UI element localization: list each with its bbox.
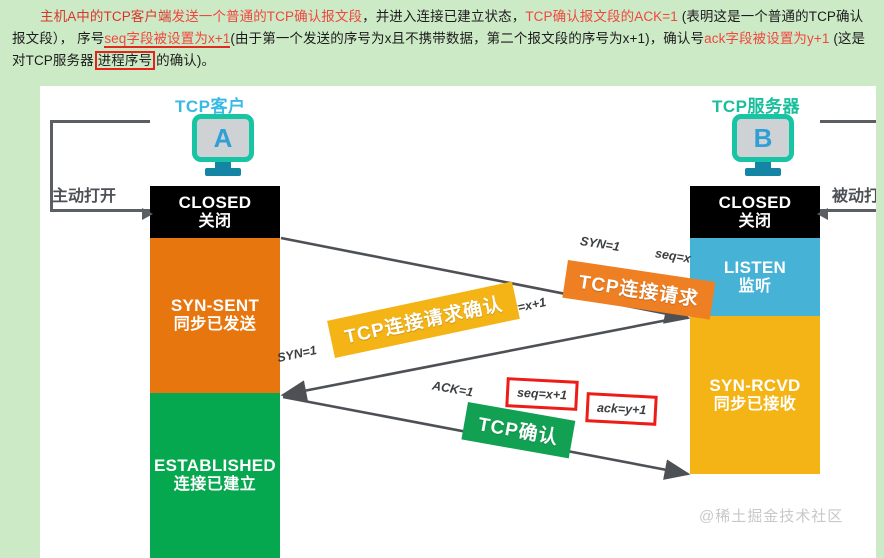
state-name-cn: 同步已发送 [174, 316, 257, 335]
note-seg-11: 的确认)。 [156, 53, 215, 68]
note-seg-6-underlined: seq字段被设置为x+1 [104, 31, 230, 48]
server-state-closed: CLOSED 关闭 [690, 186, 820, 238]
arrowhead-icon [817, 208, 828, 220]
client-computer-icon: A [192, 114, 254, 176]
state-name-en: CLOSED [179, 193, 252, 213]
state-name-cn: 同步已接收 [714, 396, 797, 415]
note-seg-10-boxed: 进程序号 [95, 51, 155, 70]
server-state-syn-rcvd: SYN-RCVD 同步已接收 [690, 316, 820, 474]
state-name-cn: 关闭 [738, 213, 771, 232]
arrowhead-icon [142, 208, 153, 220]
bracket-horizontal-bar [50, 209, 150, 212]
watermark: @稀土掘金技术社区 [699, 505, 843, 526]
state-name-cn: 关闭 [198, 213, 231, 232]
client-state-established: ESTABLISHED 连接已建立 [150, 393, 280, 558]
state-name-en: CLOSED [719, 193, 792, 213]
passive-open-label: 被动打开 [832, 182, 876, 206]
tcp-handshake-diagram: TCP客户 TCP服务器 A B CLOSED 关闭 SYN-SENT 同步已发… [40, 86, 876, 558]
state-name-cn: 监听 [738, 278, 771, 297]
bracket-horizontal-bar [820, 209, 876, 212]
annotation-paragraph: 主机A中的TCP客户端发送一个普通的TCP确认报文段，并进入连接已建立状态，TC… [12, 6, 872, 72]
field-label-seq-x-plus-1-highlighted: seq=x+1 [505, 377, 579, 411]
note-seg-1: 主机A中的TCP客户端 [40, 9, 172, 24]
state-name-en: SYN-RCVD [709, 376, 800, 396]
state-name-en: LISTEN [724, 258, 786, 278]
note-seg-7: (由于第一个发送的序号为x且不携带数据，第二个报文段的序号为x+1)，确认号 [230, 31, 704, 46]
client-state-syn-sent: SYN-SENT 同步已发送 [150, 238, 280, 393]
monitor-base [205, 168, 241, 176]
server-host-letter: B [754, 125, 773, 151]
note-seg-8: ack字段被设置为y+1 [704, 31, 829, 46]
annotation-text-block: 主机A中的TCP客户端发送一个普通的TCP确认报文段，并进入连接已建立状态，TC… [0, 0, 884, 86]
monitor-screen: A [192, 114, 254, 162]
note-seg-4: TCP确认报文段的ACK=1 [525, 9, 678, 24]
client-host-letter: A [214, 125, 233, 151]
state-name-cn: 连接已建立 [174, 476, 257, 495]
client-state-closed: CLOSED 关闭 [150, 186, 280, 238]
field-label-ack-y-plus-1-highlighted: ack=y+1 [585, 392, 658, 426]
monitor-base [745, 168, 781, 176]
server-computer-icon: B [732, 114, 794, 176]
note-seg-2: 发送一个普通的TCP确认报文段 [172, 9, 363, 24]
state-name-en: SYN-SENT [171, 296, 259, 316]
note-seg-3: ，并进入连接已建立状态， [362, 9, 525, 24]
active-open-label: 主动打开 [52, 182, 116, 206]
state-name-en: ESTABLISHED [154, 456, 276, 476]
monitor-screen: B [732, 114, 794, 162]
